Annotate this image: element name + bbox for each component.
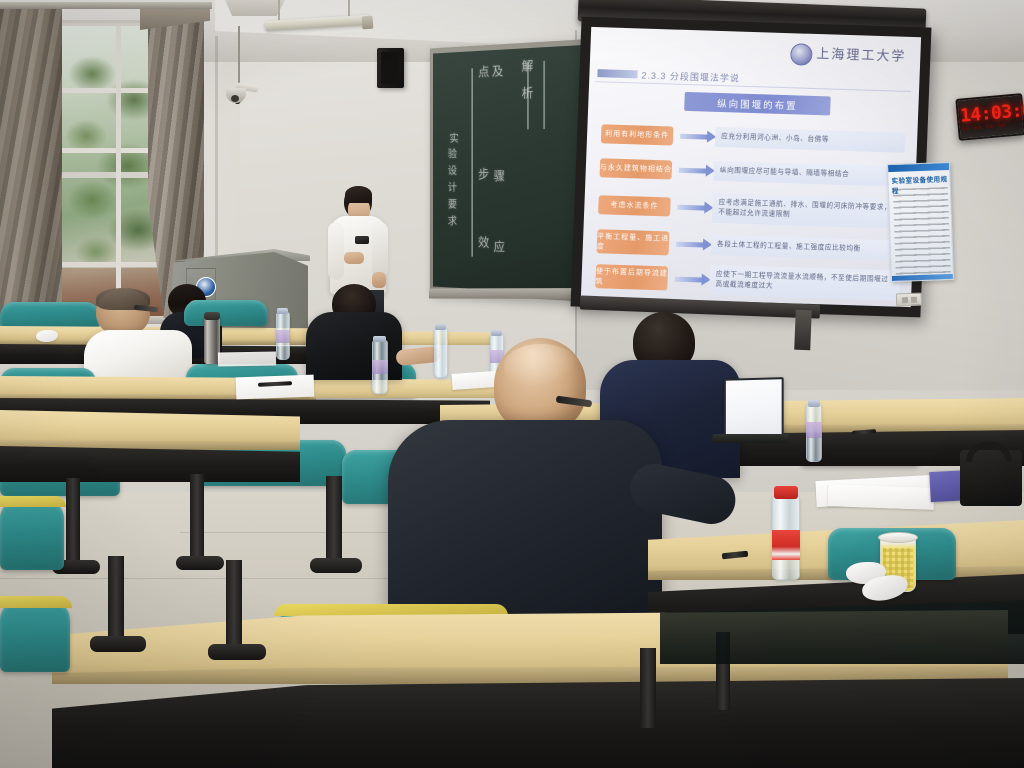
- bottle-cap: [808, 400, 820, 407]
- pull-cord[interactable]: [238, 26, 240, 90]
- slide-row-label: 利用有利地形条件: [601, 124, 674, 145]
- slide-header-rule: [595, 81, 911, 92]
- bench-rim: [0, 496, 66, 507]
- desk-leg: [640, 648, 656, 728]
- bottle-cap: [435, 324, 446, 330]
- poster-bottom-band: [892, 274, 953, 281]
- bottle-cap-red: [774, 486, 798, 499]
- water-bottle: [434, 328, 448, 378]
- poster-top-band: [888, 163, 949, 172]
- paper-sheet: [828, 484, 935, 510]
- curtain-rod: [0, 2, 212, 9]
- bench-rim: [0, 596, 72, 608]
- bottle-label: [806, 422, 822, 438]
- desk-leg: [190, 474, 204, 562]
- camera-lens: [231, 95, 239, 102]
- wall-poster: 实验室设备使用规程: [887, 162, 954, 282]
- desk-leg: [226, 560, 242, 652]
- desk-leg: [108, 556, 124, 642]
- paper-sheet: [218, 351, 276, 366]
- university-name: 上海理工大学: [816, 43, 907, 65]
- chalk-note: 要: [448, 200, 457, 211]
- arrow-icon: [673, 133, 715, 139]
- bottle-label: [276, 330, 290, 343]
- bench-backrest: [0, 500, 64, 570]
- slide-header-accent: [597, 69, 637, 78]
- projector-screen[interactable]: 上海理工大学 2.3.3 分段围堰法学说 纵向围堰的布置 利用有利地形条件 应充…: [581, 27, 921, 307]
- desk-foot: [90, 636, 146, 652]
- slide-row-label: 便于布置后期导流建筑: [595, 264, 668, 290]
- cup-rim: [878, 532, 918, 543]
- desk-row2b-underside: [0, 446, 300, 482]
- slide-row: 利用有利地形条件 应充分利用河心洲、小岛、台佛等: [587, 119, 918, 157]
- presenter-hand-right: [372, 272, 386, 288]
- arrow-icon: [670, 204, 712, 210]
- slide-row-label: 与永久建筑物相结合: [600, 158, 673, 179]
- slide-row-desc: 应考虑满足施工通航、排水、围堰的河床防冲等要求，不能超过允许流速限制: [712, 193, 903, 229]
- laptop[interactable]: [724, 377, 784, 439]
- desk-foot: [310, 558, 362, 573]
- window-mullion: [116, 26, 121, 316]
- presenter-hand: [344, 252, 364, 264]
- chalk-note: 骤: [494, 170, 505, 183]
- speaker-grille: [381, 52, 398, 84]
- presenter-held-device: [355, 236, 369, 244]
- arrow-icon: [668, 276, 710, 282]
- bottle-cap: [373, 336, 386, 342]
- arrow-icon: [669, 241, 711, 247]
- wall-outlet-icon[interactable]: [896, 293, 922, 307]
- presenter-left-arm: [328, 222, 344, 280]
- chalk-note: 验: [448, 149, 457, 160]
- curtain-left[interactable]: [0, 4, 62, 322]
- chalk-note: 点: [478, 66, 489, 79]
- arrow-icon: [672, 167, 714, 173]
- university-logo-icon: [790, 43, 813, 66]
- bottle-cap: [277, 308, 288, 314]
- bench-backrest: [0, 600, 70, 672]
- bottle-label: [372, 360, 388, 374]
- slide-row-desc: 应充分利用河心洲、小岛、台佛等: [715, 127, 906, 153]
- bench-rim: [274, 604, 508, 616]
- desk-leg: [326, 476, 342, 566]
- chalk-note: 应: [494, 240, 505, 253]
- slide-row: 与永久建筑物相结合 纵向围堰应尽可能与导墙、隔墙等相结合: [585, 153, 916, 191]
- ceiling-vent: [225, 0, 285, 16]
- slide-row-desc: 应使下一期工程导流流量水流顺畅，不至使后期围堰过高或截流难度过大: [709, 265, 900, 301]
- chalk-note: 计: [448, 183, 457, 194]
- slide-row-desc: 纵向围堰应尽可能与导墙、隔墙等相结合: [713, 161, 904, 187]
- classroom-photo: 实 验 设 计 要 求 点 及 步 骤 效 应 解 析 上海理工大学 2.3.3…: [0, 0, 1024, 768]
- laptop-base: [711, 434, 789, 443]
- bench-backrest: [184, 300, 268, 326]
- chalk-note: 及: [492, 65, 503, 79]
- bench-backrest: [0, 302, 100, 330]
- bottle-cap: [491, 330, 502, 336]
- chalk-note: 设: [448, 166, 457, 177]
- desk-leg: [66, 478, 80, 566]
- notebook: [236, 375, 315, 400]
- poster-body-text: [893, 187, 951, 275]
- slide-row-label: 考虑水流条件: [598, 195, 671, 216]
- slide-row-desc: 各段土体工程的工程量、施工强度应比较均衡: [711, 235, 902, 261]
- light-end-cap: [362, 16, 374, 30]
- thermos-lid: [204, 312, 220, 320]
- light-hanger-left: [278, 0, 280, 20]
- screen-wall-bracket: [794, 310, 812, 351]
- slide-row-label: 平衡工程量、施工进度: [597, 229, 670, 255]
- chalk-note: 效: [478, 236, 489, 249]
- chalk-note: 求: [448, 217, 457, 228]
- chalk-note: 步: [478, 168, 489, 181]
- attendee4-head-highlight: [504, 344, 578, 386]
- bottle-label-red: [772, 530, 800, 560]
- slide-row: 考虑水流条件 应考虑满足施工通航、排水、围堰的河床防冲等要求，不能超过允许流速限…: [584, 187, 915, 231]
- presenter-right-arm: [372, 222, 388, 278]
- presenter-hair-top: [345, 186, 372, 203]
- desk-foot: [208, 644, 266, 660]
- chalk-note: 实: [448, 133, 458, 143]
- slide-title: 纵向围堰的布置: [684, 92, 831, 116]
- desk-foot: [176, 556, 224, 570]
